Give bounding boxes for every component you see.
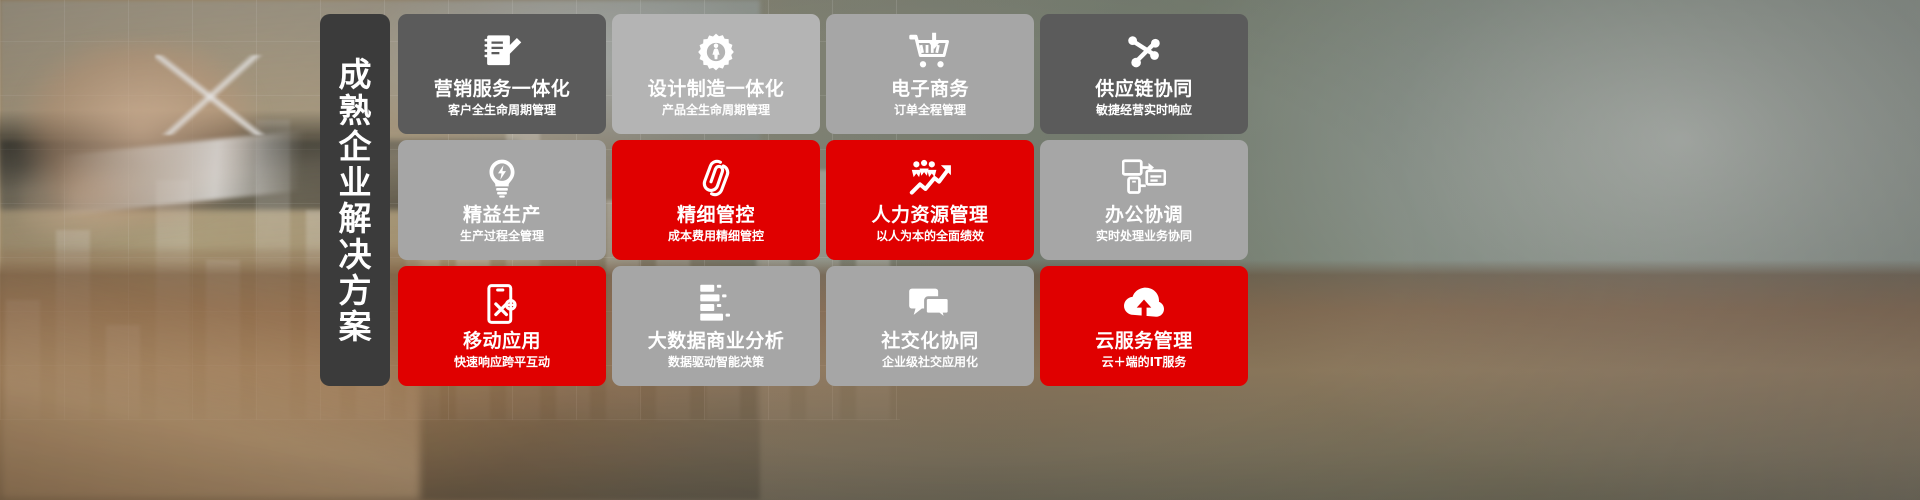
data-server-icon xyxy=(696,281,736,327)
lightbulb-bolt-icon xyxy=(483,155,521,201)
solution-card[interactable]: 精细管控 成本费用精细管控 xyxy=(612,140,820,260)
card-title: 设计制造一体化 xyxy=(648,79,785,100)
shopping-cart-download-icon xyxy=(909,29,951,75)
card-subtitle: 生产过程全管理 xyxy=(460,230,544,243)
solution-card[interactable]: 营销服务一体化 客户全生命周期管理 xyxy=(398,14,606,134)
card-subtitle: 以人为本的全面绩效 xyxy=(876,230,984,243)
card-title: 营销服务一体化 xyxy=(434,79,571,100)
card-subtitle: 成本费用精细管控 xyxy=(668,230,764,243)
network-nodes-icon xyxy=(1123,29,1165,75)
card-title: 电子商务 xyxy=(891,79,969,100)
card-title: 大数据商业分析 xyxy=(648,331,785,352)
card-title: 供应链协同 xyxy=(1095,79,1193,100)
card-title: 精益生产 xyxy=(463,205,541,226)
solution-panel: 成 熟 企 业 解 决 方 案 xyxy=(320,14,1248,386)
card-title: 人力资源管理 xyxy=(871,205,988,226)
vertical-title-char: 解 xyxy=(339,202,372,235)
vertical-title-char: 业 xyxy=(339,166,372,199)
card-subtitle: 实时处理业务协同 xyxy=(1096,230,1192,243)
card-subtitle: 数据驱动智能决策 xyxy=(668,356,764,369)
cloud-upload-icon xyxy=(1122,281,1166,327)
card-subtitle: 企业级社交应用化 xyxy=(882,356,978,369)
card-title: 精细管控 xyxy=(677,205,755,226)
solution-card[interactable]: 大数据商业分析 数据驱动智能决策 xyxy=(612,266,820,386)
card-subtitle: 订单全程管理 xyxy=(894,104,966,117)
vertical-title-char: 案 xyxy=(339,310,372,343)
chat-bubbles-icon xyxy=(908,281,952,327)
banner-stage: 成 熟 企 业 解 决 方 案 xyxy=(0,0,1920,500)
card-subtitle: 客户全生命周期管理 xyxy=(448,104,556,117)
devices-sync-icon xyxy=(1122,155,1166,201)
solution-card[interactable]: 设计制造一体化 产品全生命周期管理 xyxy=(612,14,820,134)
card-subtitle: 快速响应跨平互动 xyxy=(454,356,550,369)
solution-card[interactable]: 供应链协同 敏捷经营实时响应 xyxy=(1040,14,1248,134)
solution-card[interactable]: 电子商务 订单全程管理 xyxy=(826,14,1034,134)
vertical-title-char: 决 xyxy=(339,238,372,271)
solution-card[interactable]: 办公协调 实时处理业务协同 xyxy=(1040,140,1248,260)
card-subtitle: 敏捷经营实时响应 xyxy=(1096,104,1192,117)
vertical-title-char: 成 xyxy=(339,58,372,91)
solution-card-grid: 营销服务一体化 客户全生命周期管理 设计制造一体化 产品全生命周期管 xyxy=(398,14,1248,386)
card-title: 办公协调 xyxy=(1105,205,1183,226)
banner-content: 成 熟 企 业 解 决 方 案 xyxy=(0,0,1920,500)
solution-card[interactable]: 社交化协同 企业级社交应用化 xyxy=(826,266,1034,386)
card-title: 社交化协同 xyxy=(881,331,979,352)
vertical-title: 成 熟 企 业 解 决 方 案 xyxy=(320,14,390,386)
solution-card[interactable]: 移动应用 快速响应跨平互动 xyxy=(398,266,606,386)
card-subtitle: 云＋端的IT服务 xyxy=(1102,356,1187,369)
mobile-app-icon xyxy=(484,281,520,327)
solution-card[interactable]: 精益生产 生产过程全管理 xyxy=(398,140,606,260)
clipboard-pen-icon xyxy=(481,29,523,75)
card-subtitle: 产品全生命周期管理 xyxy=(662,104,770,117)
card-title: 移动应用 xyxy=(463,331,541,352)
solution-card[interactable]: 云服务管理 云＋端的IT服务 xyxy=(1040,266,1248,386)
card-title: 云服务管理 xyxy=(1095,331,1193,352)
paperclip-link-icon xyxy=(697,155,735,201)
vertical-title-char: 方 xyxy=(339,274,372,307)
solution-card[interactable]: 人力资源管理 以人为本的全面绩效 xyxy=(826,140,1034,260)
people-growth-arrow-icon xyxy=(908,155,952,201)
vertical-title-char: 熟 xyxy=(339,94,372,127)
vertical-title-char: 企 xyxy=(339,130,372,163)
gear-person-icon xyxy=(696,29,736,75)
